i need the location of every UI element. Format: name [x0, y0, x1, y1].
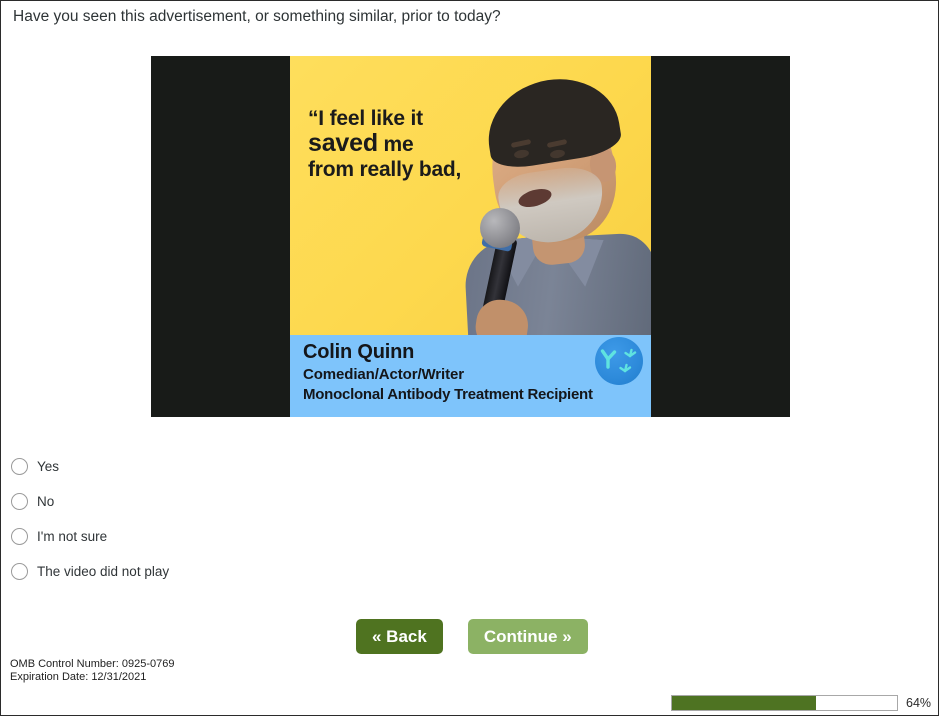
progress-bar-track: [671, 695, 898, 711]
ad-quote-emphasis: saved: [308, 129, 378, 157]
advertisement-video[interactable]: “I feel like it saved me from really bad…: [151, 56, 790, 417]
ad-content: “I feel like it saved me from really bad…: [290, 56, 651, 417]
continue-button[interactable]: Continue »: [468, 619, 588, 654]
survey-page: Have you seen this advertisement, or som…: [0, 0, 939, 716]
radio-option-no[interactable]: No: [11, 488, 169, 514]
navigation-buttons: « Back Continue »: [356, 619, 588, 654]
radio-option-not-sure[interactable]: I'm not sure: [11, 523, 169, 549]
ad-name-banner: Colin Quinn Comedian/Actor/Writer Monocl…: [290, 335, 651, 417]
radio-option-label: No: [37, 493, 54, 510]
radio-option-video-did-not-play[interactable]: The video did not play: [11, 558, 169, 584]
radio-option-yes[interactable]: Yes: [11, 453, 169, 479]
progress-percent-label: 64%: [906, 696, 931, 710]
radio-option-label: The video did not play: [37, 563, 169, 580]
radio-option-label: I'm not sure: [37, 528, 107, 545]
antibody-icon: [595, 337, 643, 385]
radio-option-label: Yes: [37, 458, 59, 475]
radio-button-icon[interactable]: [11, 493, 28, 510]
ad-yellow-background: “I feel like it saved me from really bad…: [290, 56, 651, 335]
spokesperson-photo: [440, 62, 651, 335]
radio-button-icon[interactable]: [11, 563, 28, 580]
progress-bar-fill: [672, 696, 816, 710]
omb-footer: OMB Control Number: 0925-0769 Expiration…: [10, 658, 174, 684]
ad-quote-line2-rest: me: [378, 133, 414, 156]
omb-expiration-date: Expiration Date: 12/31/2021: [10, 671, 174, 684]
ad-person-recipient: Monoclonal Antibody Treatment Recipient: [303, 386, 593, 403]
progress-indicator: 64%: [671, 695, 931, 711]
ad-person-role: Comedian/Actor/Writer: [303, 366, 464, 383]
radio-button-icon[interactable]: [11, 528, 28, 545]
back-button[interactable]: « Back: [356, 619, 443, 654]
page-title: Have you seen this advertisement, or som…: [13, 7, 913, 27]
microphone-icon: [480, 208, 520, 248]
radio-button-icon[interactable]: [11, 458, 28, 475]
ad-person-name: Colin Quinn: [303, 341, 414, 364]
answer-options: Yes No I'm not sure The video did not pl…: [11, 453, 169, 593]
omb-control-number: OMB Control Number: 0925-0769: [10, 658, 174, 671]
